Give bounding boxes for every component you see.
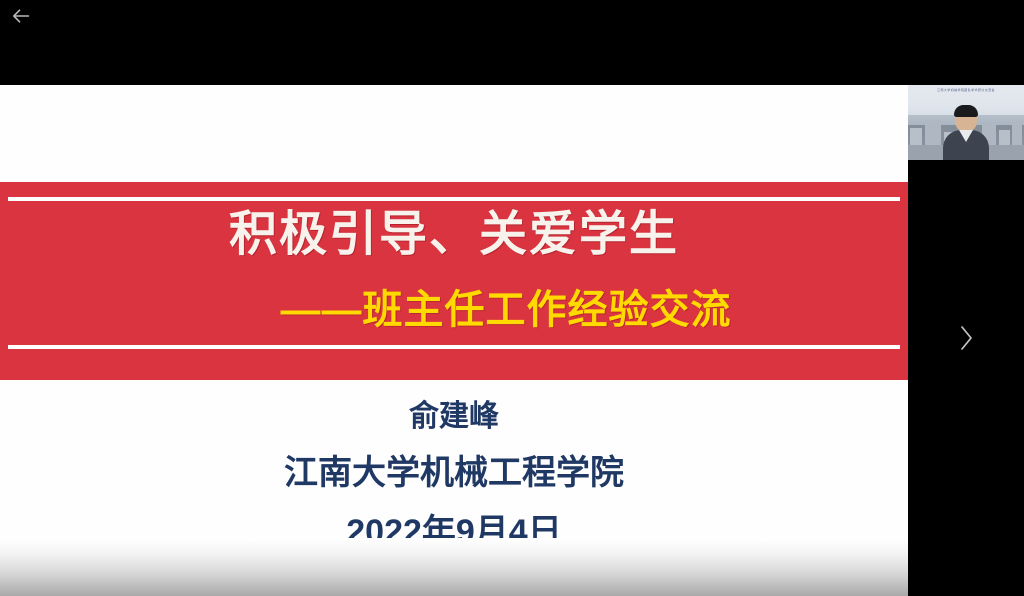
banner-rule-top <box>8 197 900 201</box>
webcam-person-hair <box>954 105 978 117</box>
next-slide-button[interactable] <box>908 315 1024 361</box>
webcam-video-feed[interactable]: 江南大学机械学院团队学术研讨交流会 <box>908 85 1024 160</box>
title-banner: 积极引导、关爱学生 ——班主任工作经验交流 <box>0 182 908 380</box>
back-button[interactable] <box>8 4 34 28</box>
back-arrow-icon <box>12 8 30 24</box>
right-rail: 江南大学机械学院团队学术研讨交流会 <box>908 85 1024 596</box>
chevron-right-icon <box>958 323 975 353</box>
presenter-organization: 江南大学机械工程学院 <box>0 449 908 498</box>
webcam-banner-text: 江南大学机械学院团队学术研讨交流会 <box>908 88 1024 92</box>
presenter-name: 俞建峰 <box>0 395 908 439</box>
slide-canvas[interactable]: 积极引导、关爱学生 ——班主任工作经验交流 俞建峰 江南大学机械工程学院 202… <box>0 85 908 596</box>
slide-bottom-gradient <box>0 538 908 596</box>
slide-subtitle: ——班主任工作经验交流 <box>0 285 908 335</box>
slide-title: 积极引导、关爱学生 <box>0 205 908 265</box>
presentation-viewer: 积极引导、关爱学生 ——班主任工作经验交流 俞建峰 江南大学机械工程学院 202… <box>0 0 1024 596</box>
banner-rule-bottom <box>8 345 900 349</box>
top-bar <box>0 0 1024 85</box>
presenter-block: 俞建峰 江南大学机械工程学院 2022年9月4日 <box>0 395 908 557</box>
